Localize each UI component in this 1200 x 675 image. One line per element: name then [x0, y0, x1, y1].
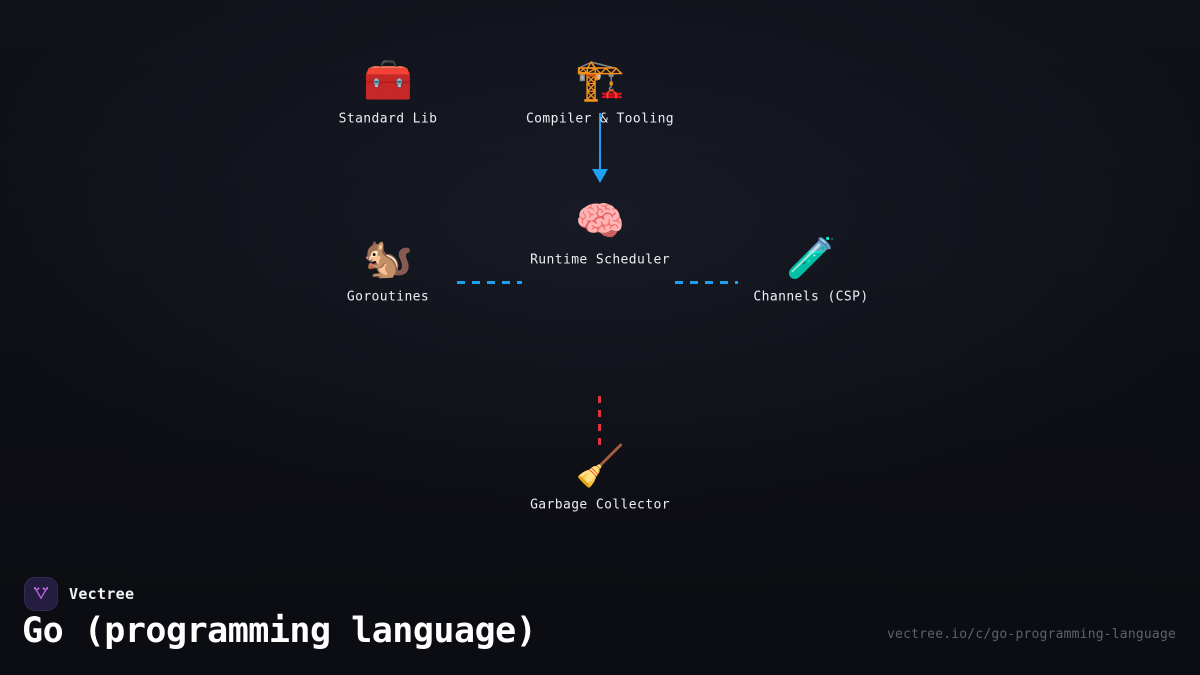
test-tube-icon: 🧪 — [786, 236, 836, 282]
node-channels-csp[interactable]: 🧪 Channels (CSP) — [701, 236, 921, 305]
toolbox-icon: 🧰 — [363, 58, 413, 104]
concept-graph-canvas: 🧰 Standard Lib 🏗️ Compiler & Tooling 🧠 R… — [0, 0, 1200, 560]
node-runtime-scheduler[interactable]: 🧠 Runtime Scheduler — [490, 199, 710, 268]
brand-name: Vectree — [69, 585, 134, 603]
chipmunk-icon: 🐿️ — [363, 236, 413, 282]
node-label-channels-csp: Channels (CSP) — [753, 290, 868, 305]
node-label-standard-lib: Standard Lib — [339, 112, 438, 127]
node-compiler-tooling[interactable]: 🏗️ Compiler & Tooling — [490, 58, 710, 127]
broom-icon: 🧹 — [575, 444, 625, 490]
page-title: Go (programming language) — [22, 611, 536, 651]
vectree-logo-icon — [24, 577, 58, 611]
node-standard-lib[interactable]: 🧰 Standard Lib — [278, 58, 498, 127]
node-label-compiler-tooling: Compiler & Tooling — [526, 112, 674, 127]
brand[interactable]: Vectree — [24, 577, 134, 611]
node-garbage-collector[interactable]: 🧹 Garbage Collector — [490, 444, 710, 513]
node-goroutines[interactable]: 🐿️ Goroutines — [278, 236, 498, 305]
footer-bar: Vectree Go (programming language) vectre… — [0, 557, 1200, 675]
edge-scheduler-to-garbage-collector — [598, 396, 601, 446]
node-label-garbage-collector: Garbage Collector — [530, 498, 670, 513]
page-url: vectree.io/c/go-programming-language — [887, 627, 1176, 642]
crane-icon: 🏗️ — [575, 58, 625, 104]
node-label-runtime-scheduler: Runtime Scheduler — [530, 253, 670, 268]
edge-compiler-to-scheduler-arrowhead — [592, 169, 608, 183]
node-label-goroutines: Goroutines — [347, 290, 429, 305]
brain-icon: 🧠 — [575, 199, 625, 245]
